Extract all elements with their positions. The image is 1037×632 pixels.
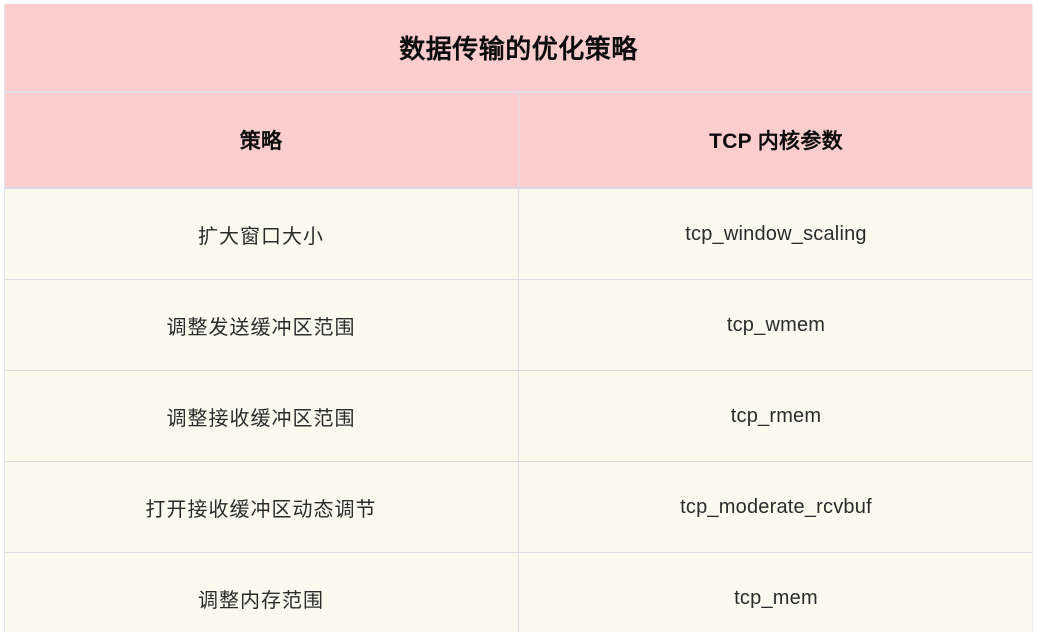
cell-strategy: 打开接收缓冲区动态调节 — [4, 462, 519, 553]
table-header-row: 策略 TCP 内核参数 — [4, 92, 1033, 188]
cell-strategy: 扩大窗口大小 — [4, 188, 519, 280]
column-header-strategy: 策略 — [4, 92, 519, 188]
table-title: 数据传输的优化策略 — [4, 4, 1033, 92]
optimization-strategy-table: 数据传输的优化策略 策略 TCP 内核参数 扩大窗口大小 tcp_window_… — [4, 4, 1033, 632]
cell-strategy: 调整发送缓冲区范围 — [4, 280, 519, 371]
cell-strategy: 调整接收缓冲区范围 — [4, 371, 519, 462]
table-row: 打开接收缓冲区动态调节 tcp_moderate_rcvbuf — [4, 462, 1033, 553]
cell-strategy: 调整内存范围 — [4, 553, 519, 632]
optimization-table-container: 数据传输的优化策略 策略 TCP 内核参数 扩大窗口大小 tcp_window_… — [4, 4, 1033, 632]
cell-parameter: tcp_moderate_rcvbuf — [519, 462, 1034, 553]
table-row: 调整内存范围 tcp_mem — [4, 553, 1033, 632]
table-row: 调整发送缓冲区范围 tcp_wmem — [4, 280, 1033, 371]
cell-parameter: tcp_rmem — [519, 371, 1034, 462]
column-header-tcp-kernel-parameter: TCP 内核参数 — [519, 92, 1034, 188]
table-row: 扩大窗口大小 tcp_window_scaling — [4, 188, 1033, 280]
table-title-row: 数据传输的优化策略 — [4, 4, 1033, 92]
cell-parameter: tcp_window_scaling — [519, 188, 1034, 280]
cell-parameter: tcp_wmem — [519, 280, 1034, 371]
cell-parameter: tcp_mem — [519, 553, 1034, 632]
table-row: 调整接收缓冲区范围 tcp_rmem — [4, 371, 1033, 462]
